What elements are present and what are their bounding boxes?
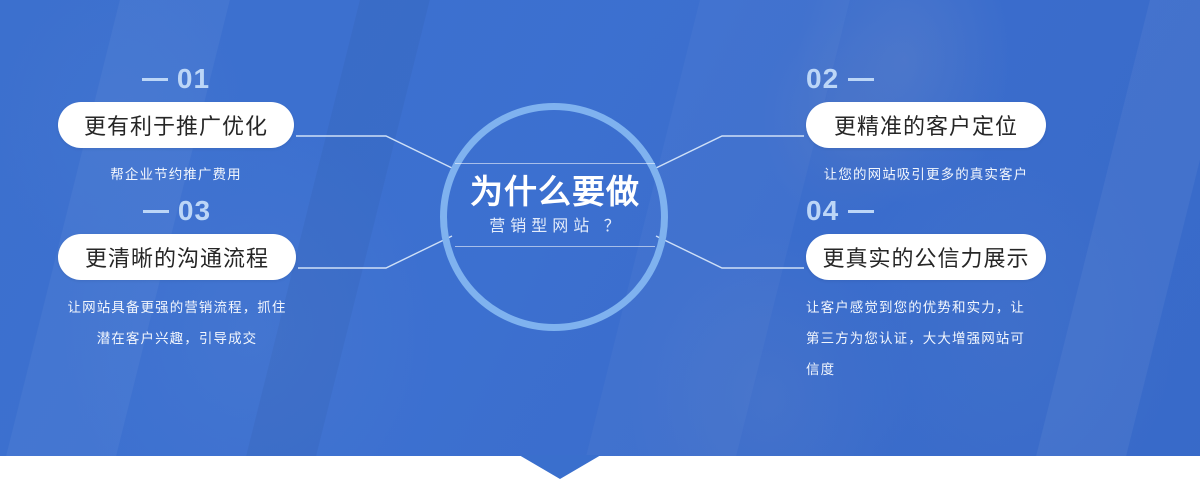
dash-icon: [848, 78, 874, 81]
item-04-description: 让客户感觉到您的优势和实力，让 第三方为您认证，大大增强网站可 信度: [806, 292, 1052, 385]
center-title: 为什么要做: [455, 170, 655, 214]
center-subtitle: 营销型网站 ？: [455, 214, 655, 240]
item-04-description-line3: 信度: [806, 354, 1052, 385]
item-03-description-line1: 让网站具备更强的营销流程，抓住: [47, 292, 307, 323]
item-01-pill[interactable]: 更有利于推广优化: [58, 102, 294, 148]
item-04-number-row: 04: [806, 196, 1046, 226]
item-03: 03 更清晰的沟通流程 让网站具备更强的营销流程，抓住 潜在客户兴趣，引导成交: [58, 196, 296, 354]
dash-icon: [848, 210, 874, 213]
item-02-label: 更精准的客户定位: [834, 109, 1018, 141]
item-01: 01 更有利于推广优化 帮企业节约推广费用: [58, 64, 294, 190]
item-02-number-row: 02: [806, 64, 1046, 94]
item-04-pill[interactable]: 更真实的公信力展示: [806, 234, 1046, 280]
item-04-description-line2: 第三方为您认证，大大增强网站可: [806, 323, 1052, 354]
dash-icon: [143, 210, 169, 213]
item-02-pill[interactable]: 更精准的客户定位: [806, 102, 1046, 148]
item-04: 04 更真实的公信力展示 让客户感觉到您的优势和实力，让 第三方为您认证，大大增…: [806, 196, 1046, 385]
item-01-number-row: 01: [58, 64, 294, 94]
infographic-banner: 为什么要做 营销型网站 ？ 01 更有利于推广优化 帮企业节约推广费用 03 更…: [0, 0, 1200, 486]
center-divider-bottom: [455, 246, 655, 247]
center-content: 为什么要做 营销型网站 ？: [455, 163, 655, 247]
item-03-label: 更清晰的沟通流程: [85, 241, 269, 273]
item-04-number: 04: [806, 196, 839, 226]
item-01-description: 帮企业节约推广费用: [58, 159, 294, 190]
dash-icon: [142, 78, 168, 81]
item-02-number: 02: [806, 64, 839, 94]
item-03-description-line2: 潜在客户兴趣，引导成交: [47, 323, 307, 354]
center-divider-top: [455, 163, 655, 164]
item-02: 02 更精准的客户定位 让您的网站吸引更多的真实客户: [806, 64, 1046, 190]
item-03-number-row: 03: [58, 196, 296, 226]
item-01-label: 更有利于推广优化: [84, 109, 268, 141]
item-03-pill[interactable]: 更清晰的沟通流程: [58, 234, 296, 280]
scroll-down-chevron: [519, 455, 601, 479]
item-04-description-line1: 让客户感觉到您的优势和实力，让: [806, 292, 1052, 323]
item-03-description: 让网站具备更强的营销流程，抓住 潜在客户兴趣，引导成交: [47, 292, 307, 354]
item-03-number: 03: [178, 196, 211, 226]
item-01-number: 01: [177, 64, 210, 94]
item-04-label: 更真实的公信力展示: [822, 241, 1029, 273]
item-02-description: 让您的网站吸引更多的真实客户: [806, 159, 1046, 190]
